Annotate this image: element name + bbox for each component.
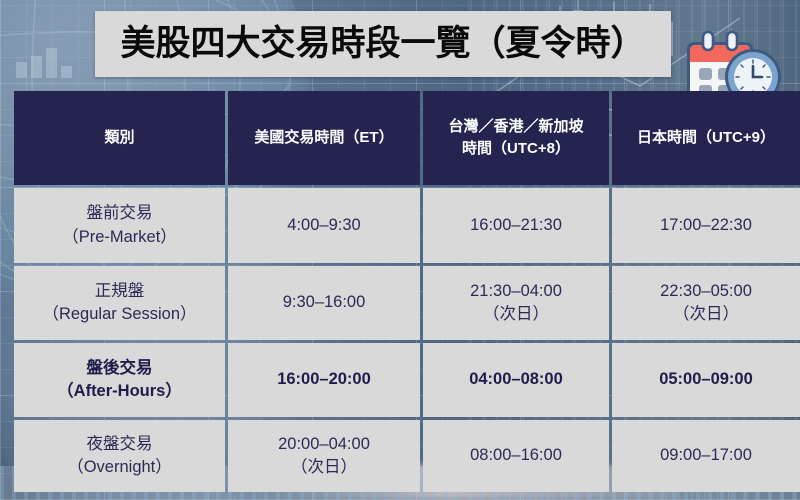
cell-utc8: 04:00–08:00 <box>423 343 609 417</box>
cell-category: 夜盤交易 （Overnight） <box>14 420 225 492</box>
trading-sessions-table: 類別 美國交易時間（ET） 台灣／香港／新加坡 時間（UTC+8） 日本時間（U… <box>11 88 800 495</box>
cell-us-et-line1: 20:00–04:00 <box>234 433 414 456</box>
cell-utc9: 05:00–09:00 <box>612 343 800 417</box>
cell-category-zh: 盤後交易 <box>20 357 219 380</box>
trading-sessions-table-wrap: 類別 美國交易時間（ET） 台灣／香港／新加坡 時間（UTC+8） 日本時間（U… <box>11 88 788 477</box>
page-title: 美股四大交易時段一覽（夏令時） <box>120 27 645 62</box>
cell-category: 盤前交易 （Pre-Market） <box>14 188 225 263</box>
cell-utc9: 09:00–17:00 <box>612 420 800 492</box>
cell-utc9-line1: 05:00–09:00 <box>618 368 794 391</box>
cell-utc9: 22:30–05:00 （次日） <box>612 266 800 340</box>
cell-utc8-line1: 08:00–16:00 <box>429 444 603 467</box>
cell-us-et-line1: 4:00–9:30 <box>234 214 414 237</box>
cell-utc9-line1: 22:30–05:00 <box>618 280 794 303</box>
column-header-us-et-line1: 美國交易時間（ET） <box>234 127 414 149</box>
cell-category-en: （After-Hours） <box>20 380 219 403</box>
cell-utc9-line2: （次日） <box>618 303 794 326</box>
table-row: 夜盤交易 （Overnight） 20:00–04:00 （次日） 08:00–… <box>14 420 800 492</box>
cell-us-et-line1: 9:30–16:00 <box>234 291 414 314</box>
cell-utc8-line2: （次日） <box>429 303 603 326</box>
cell-category-en: （Overnight） <box>20 456 219 479</box>
table-row: 正規盤 （Regular Session） 9:30–16:00 21:30–0… <box>14 266 800 340</box>
cell-category-en: （Pre-Market） <box>20 226 219 249</box>
table-header-row: 類別 美國交易時間（ET） 台灣／香港／新加坡 時間（UTC+8） 日本時間（U… <box>14 91 800 185</box>
cell-category-en: （Regular Session） <box>20 303 219 326</box>
cell-utc9-line1: 09:00–17:00 <box>618 444 794 467</box>
cell-utc8: 21:30–04:00 （次日） <box>423 266 609 340</box>
column-header-us-et: 美國交易時間（ET） <box>228 91 420 185</box>
cell-us-et: 4:00–9:30 <box>228 188 420 263</box>
cell-us-et-line1: 16:00–20:00 <box>234 368 414 391</box>
cell-category: 盤後交易 （After-Hours） <box>14 343 225 417</box>
table-row: 盤前交易 （Pre-Market） 4:00–9:30 16:00–21:30 … <box>14 188 800 263</box>
cell-utc9-line1: 17:00–22:30 <box>618 214 794 237</box>
cell-category-zh: 盤前交易 <box>20 202 219 225</box>
cell-utc9: 17:00–22:30 <box>612 188 800 263</box>
cell-utc8-line1: 21:30–04:00 <box>429 280 603 303</box>
cell-category: 正規盤 （Regular Session） <box>14 266 225 340</box>
table-row: 盤後交易 （After-Hours） 16:00–20:00 04:00–08:… <box>14 343 800 417</box>
cell-us-et-line2: （次日） <box>234 456 414 479</box>
slide-canvas: 美股四大交易時段一覽（夏令時） <box>0 0 800 500</box>
cell-category-zh: 正規盤 <box>20 280 219 303</box>
column-header-utc8: 台灣／香港／新加坡 時間（UTC+8） <box>423 91 609 185</box>
column-header-utc9-line1: 日本時間（UTC+9） <box>618 127 794 149</box>
cell-us-et: 16:00–20:00 <box>228 343 420 417</box>
column-header-utc8-line1: 台灣／香港／新加坡 <box>429 116 603 138</box>
cell-category-zh: 夜盤交易 <box>20 433 219 456</box>
cell-utc8: 16:00–21:30 <box>423 188 609 263</box>
title-banner: 美股四大交易時段一覽（夏令時） <box>95 11 671 77</box>
column-header-category: 類別 <box>14 91 225 185</box>
cell-us-et: 9:30–16:00 <box>228 266 420 340</box>
column-header-utc8-line2: 時間（UTC+8） <box>429 138 603 160</box>
cell-utc8: 08:00–16:00 <box>423 420 609 492</box>
cell-us-et: 20:00–04:00 （次日） <box>228 420 420 492</box>
cell-utc8-line1: 16:00–21:30 <box>429 214 603 237</box>
column-header-category-line1: 類別 <box>20 127 219 149</box>
column-header-utc9: 日本時間（UTC+9） <box>612 91 800 185</box>
cell-utc8-line1: 04:00–08:00 <box>429 368 603 391</box>
